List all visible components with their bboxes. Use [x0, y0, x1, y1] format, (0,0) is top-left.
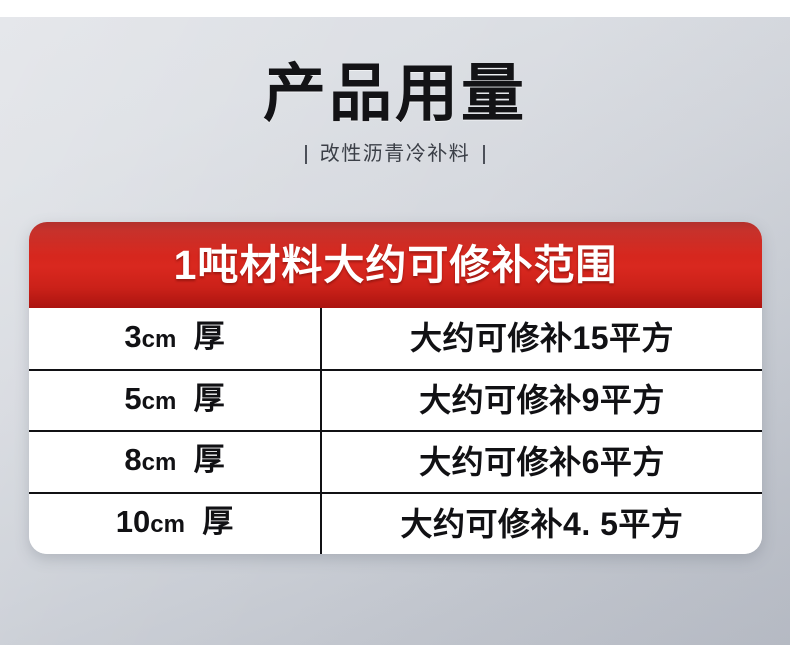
thickness-value: 10 — [116, 504, 150, 539]
banner-title: 1吨材料大约可修补范围 — [174, 242, 618, 288]
spec-card: 1吨材料大约可修补范围 3cm 厚 大约可修补15平方 5cm — [29, 222, 762, 554]
page-title: 产品用量 — [0, 58, 790, 130]
coverage-label: 大约可修补6平方 — [419, 444, 665, 480]
table-row: 10cm 厚 大约可修补4. 5平方 — [29, 493, 762, 555]
thickness-label: 8cm 厚 — [124, 442, 224, 477]
page-root: 产品用量 改性沥青冷补料 1吨材料大约可修补范围 3cm 厚 — [0, 0, 790, 651]
thickness-label: 10cm 厚 — [116, 504, 233, 539]
table-row: 3cm 厚 大约可修补15平方 — [29, 308, 762, 370]
table-row: 5cm 厚 大约可修补9平方 — [29, 370, 762, 432]
card-banner: 1吨材料大约可修补范围 — [29, 222, 762, 308]
thickness-suffix: 厚 — [194, 319, 225, 354]
table-cell-coverage: 大约可修补9平方 — [321, 370, 762, 432]
page-subtitle: 改性沥青冷补料 — [320, 142, 471, 166]
subtitle-right-bar-icon — [483, 145, 485, 164]
thickness-label: 3cm 厚 — [124, 319, 224, 354]
table-cell-coverage: 大约可修补15平方 — [321, 308, 762, 370]
subtitle-left-bar-icon — [305, 145, 307, 164]
thickness-value: 5 — [124, 381, 141, 416]
spec-table: 3cm 厚 大约可修补15平方 5cm 厚 大约可修补9平方 — [29, 308, 762, 554]
coverage-label: 大约可修补15平方 — [410, 320, 674, 356]
table-cell-coverage: 大约可修补4. 5平方 — [321, 493, 762, 555]
thickness-value: 3 — [124, 319, 141, 354]
table-cell-thickness: 10cm 厚 — [29, 493, 321, 555]
subtitle-row: 改性沥青冷补料 — [0, 142, 790, 166]
thickness-unit: cm — [142, 388, 177, 415]
table-cell-thickness: 5cm 厚 — [29, 370, 321, 432]
coverage-label: 大约可修补9平方 — [419, 382, 665, 418]
table-cell-thickness: 8cm 厚 — [29, 431, 321, 493]
heading-block: 产品用量 改性沥青冷补料 — [0, 58, 790, 166]
thickness-label: 5cm 厚 — [124, 381, 224, 416]
table-row: 8cm 厚 大约可修补6平方 — [29, 431, 762, 493]
thickness-suffix: 厚 — [194, 381, 225, 416]
thickness-suffix: 厚 — [202, 504, 233, 539]
coverage-label: 大约可修补4. 5平方 — [401, 506, 684, 542]
thickness-unit: cm — [142, 449, 177, 476]
thickness-value: 8 — [124, 442, 141, 477]
thickness-unit: cm — [150, 511, 185, 538]
thickness-unit: cm — [142, 326, 177, 353]
table-cell-coverage: 大约可修补6平方 — [321, 431, 762, 493]
thickness-suffix: 厚 — [194, 442, 225, 477]
table-cell-thickness: 3cm 厚 — [29, 308, 321, 370]
